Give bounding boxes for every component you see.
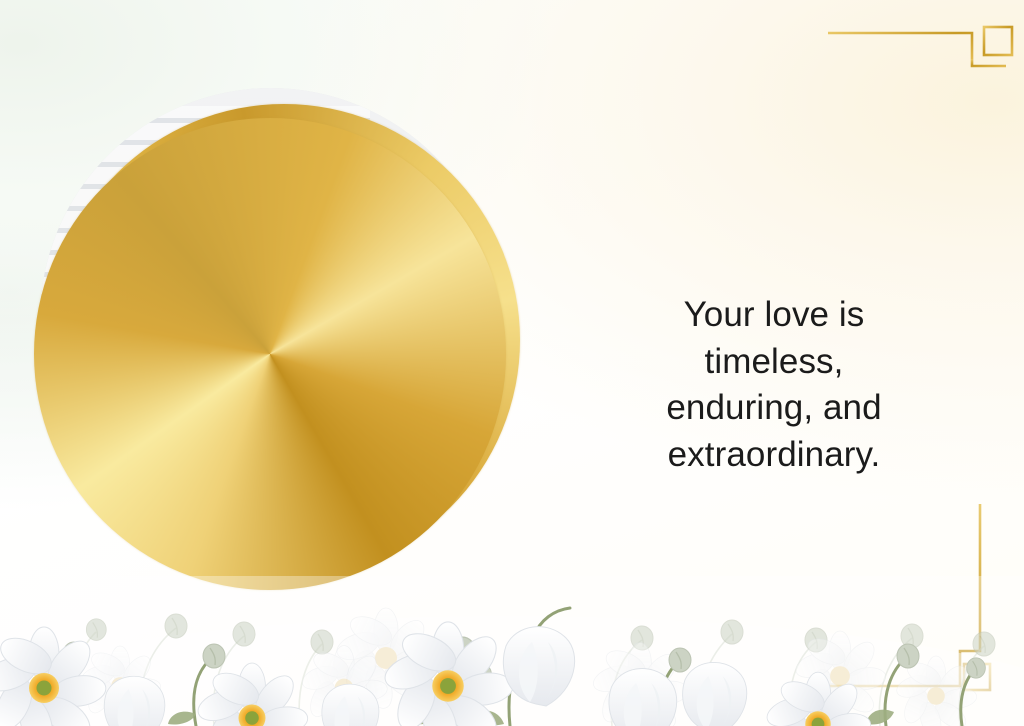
quote-line-3: enduring, and (600, 385, 948, 432)
gold-corner-frame-bottom-right (794, 496, 1024, 726)
gold-corner-frame-top-right (824, 0, 1024, 190)
quote-text: Your love is timeless, enduring, and ext… (600, 292, 948, 478)
photo-frame (18, 88, 518, 588)
quote-line-2: timeless, (600, 339, 948, 386)
couple-photo (40, 88, 502, 550)
greeting-card: Your love is timeless, enduring, and ext… (0, 0, 1024, 726)
quote-line-4: extraordinary. (600, 432, 948, 479)
quote-line-1: Your love is (600, 292, 948, 339)
